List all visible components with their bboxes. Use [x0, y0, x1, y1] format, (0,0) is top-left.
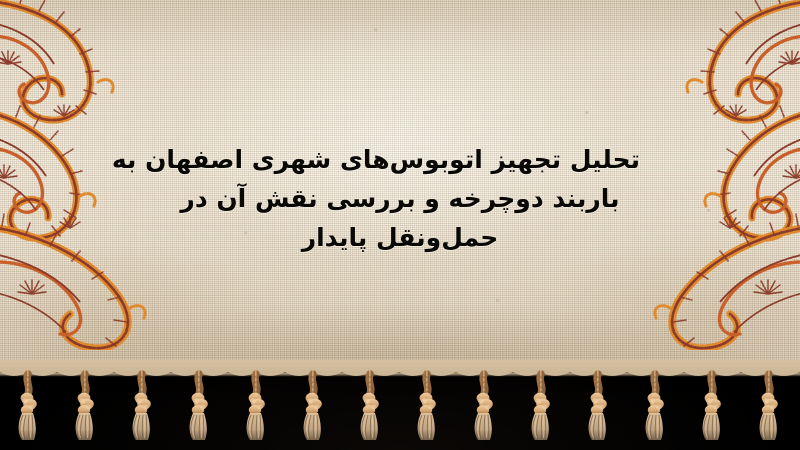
title-line-1: تحلیل تجهیز اتوبوس‌های شهری اصفهان به: [160, 140, 640, 179]
slide-title: تحلیل تجهیز اتوبوس‌های شهری اصفهان به با…: [160, 140, 640, 257]
title-line-3: حمل‌ونقل پایدار: [160, 218, 640, 257]
slide-canvas: تحلیل تجهیز اتوبوس‌های شهری اصفهان به با…: [0, 0, 800, 450]
tassel-fringe: [0, 360, 800, 450]
title-line-2: باربند دوچرخه و بررسی نقش آن در: [160, 179, 640, 218]
